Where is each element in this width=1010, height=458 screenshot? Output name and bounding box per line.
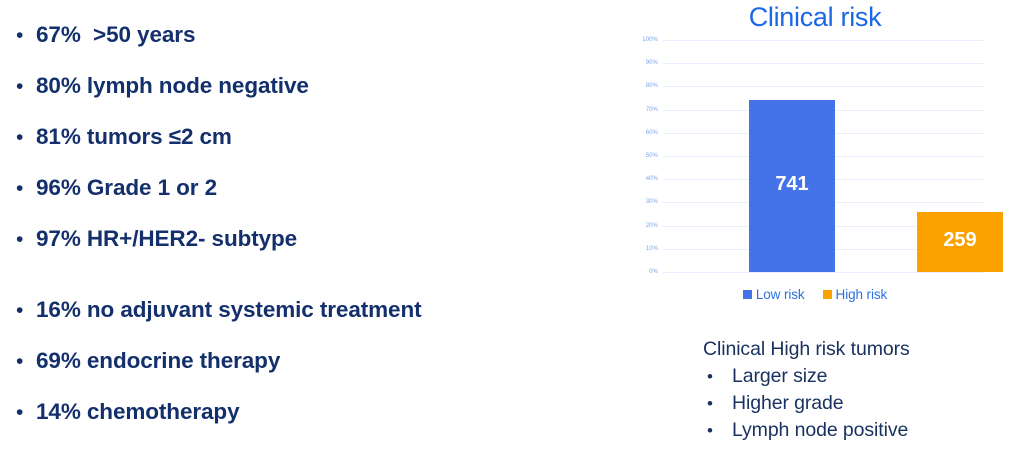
chart-gridline: 100% bbox=[663, 40, 985, 41]
chart-bar-high-risk[interactable]: 259 bbox=[917, 212, 1003, 272]
chart-gridline: 80% bbox=[663, 86, 985, 87]
list-item-label: 14% chemotherapy bbox=[36, 399, 239, 425]
y-axis-tick-label: 60% bbox=[646, 130, 658, 136]
list-item: • Lymph node positive bbox=[703, 417, 1003, 444]
list-item-label: 69% endocrine therapy bbox=[36, 348, 280, 374]
list-item: • 67% >50 years bbox=[14, 22, 309, 73]
legend-swatch-icon bbox=[823, 290, 832, 299]
chart-plot-area: 100%90%80%70%60%50%40%30%20%10%0%741259 bbox=[663, 40, 985, 272]
chart-bar-low-risk[interactable]: 741 bbox=[749, 100, 835, 272]
bullet-icon: • bbox=[703, 363, 732, 390]
y-axis-tick-label: 40% bbox=[646, 176, 658, 182]
list-item-label: 80% lymph node negative bbox=[36, 73, 309, 99]
bullet-icon: • bbox=[14, 127, 36, 148]
list-item: • 80% lymph node negative bbox=[14, 73, 309, 124]
list-item-label: Higher grade bbox=[732, 390, 844, 417]
legend-item-high-risk[interactable]: High risk bbox=[823, 287, 888, 302]
patient-characteristics-panel: • 67% >50 years • 80% lymph node negativ… bbox=[0, 0, 620, 458]
list-item-label: Lymph node positive bbox=[732, 417, 908, 444]
bar-value-label: 741 bbox=[749, 173, 835, 196]
legend-swatch-icon bbox=[743, 290, 752, 299]
y-axis-tick-label: 30% bbox=[646, 199, 658, 205]
high-risk-definition-block: Clinical High risk tumors • Larger size … bbox=[703, 336, 1003, 444]
list-item: • 96% Grade 1 or 2 bbox=[14, 175, 309, 226]
bullet-icon: • bbox=[14, 300, 36, 321]
y-axis-tick-label: 20% bbox=[646, 223, 658, 229]
chart-title: Clinical risk bbox=[620, 2, 1010, 33]
y-axis-tick-label: 70% bbox=[646, 107, 658, 113]
chart-gridline: 90% bbox=[663, 63, 985, 64]
list-item-label: 96% Grade 1 or 2 bbox=[36, 175, 217, 201]
legend-label: High risk bbox=[836, 287, 888, 302]
legend-label: Low risk bbox=[756, 287, 805, 302]
y-axis-tick-label: 90% bbox=[646, 60, 658, 66]
list-item-label: 81% tumors ≤2 cm bbox=[36, 124, 232, 150]
y-axis-tick-label: 80% bbox=[646, 83, 658, 89]
list-item-label: Larger size bbox=[732, 363, 827, 390]
legend-item-low-risk[interactable]: Low risk bbox=[743, 287, 805, 302]
list-item: • Higher grade bbox=[703, 390, 1003, 417]
bullet-icon: • bbox=[14, 178, 36, 199]
bullet-icon: • bbox=[703, 390, 732, 417]
y-axis-tick-label: 100% bbox=[642, 37, 658, 43]
bullet-icon: • bbox=[14, 76, 36, 97]
bullet-icon: • bbox=[14, 351, 36, 372]
y-axis-tick-label: 10% bbox=[646, 246, 658, 252]
list-item: • 14% chemotherapy bbox=[14, 399, 421, 450]
caption-heading: Clinical High risk tumors bbox=[703, 336, 1003, 363]
chart-gridline: 0% bbox=[663, 272, 985, 273]
treatment-list: • 16% no adjuvant systemic treatment • 6… bbox=[14, 297, 421, 450]
bullet-icon: • bbox=[703, 417, 732, 444]
list-item: • 16% no adjuvant systemic treatment bbox=[14, 297, 421, 348]
y-axis-tick-label: 0% bbox=[649, 269, 658, 275]
y-axis-tick-label: 50% bbox=[646, 153, 658, 159]
list-item-label: 16% no adjuvant systemic treatment bbox=[36, 297, 421, 323]
bullet-icon: • bbox=[14, 25, 36, 46]
clinical-risk-chart: Clinical risk 100%90%80%70%60%50%40%30%2… bbox=[620, 0, 1010, 320]
bar-value-label: 259 bbox=[917, 229, 1003, 252]
list-item: • 97% HR+/HER2- subtype bbox=[14, 226, 309, 277]
list-item-label: 67% >50 years bbox=[36, 22, 195, 48]
bullet-icon: • bbox=[14, 402, 36, 423]
chart-legend: Low risk High risk bbox=[620, 287, 1010, 302]
list-item: • 69% endocrine therapy bbox=[14, 348, 421, 399]
bullet-icon: • bbox=[14, 229, 36, 250]
list-item: • 81% tumors ≤2 cm bbox=[14, 124, 309, 175]
list-item-label: 97% HR+/HER2- subtype bbox=[36, 226, 297, 252]
tumor-characteristics-list: • 67% >50 years • 80% lymph node negativ… bbox=[14, 22, 309, 277]
list-item: • Larger size bbox=[703, 363, 1003, 390]
